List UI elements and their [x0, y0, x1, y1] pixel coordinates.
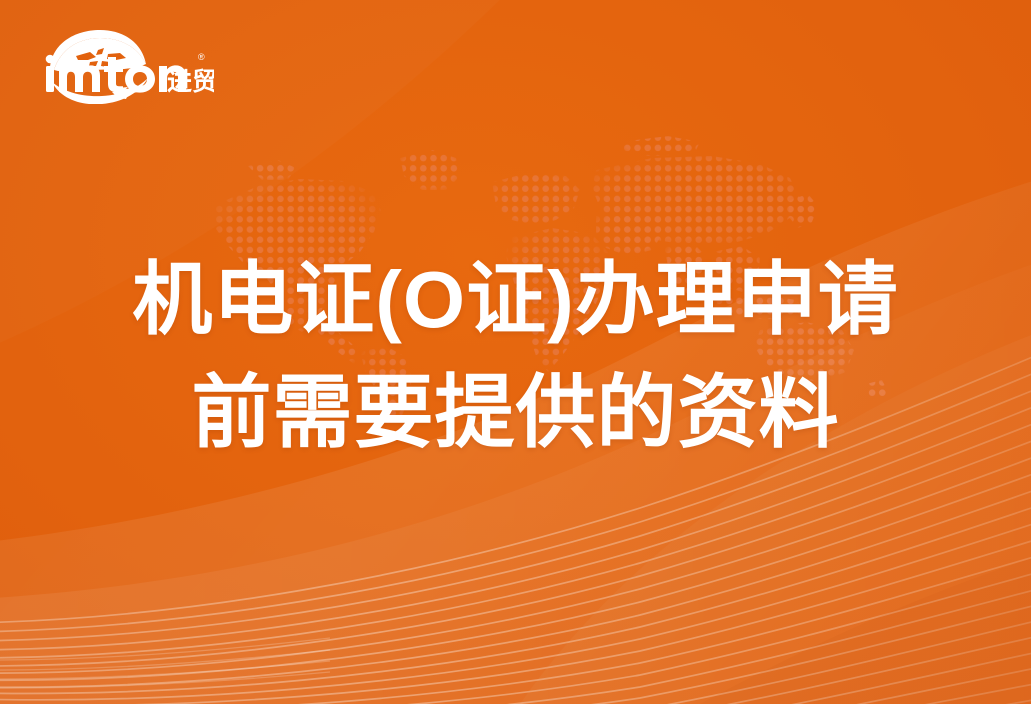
brand-chinese-name: 进贸通 [167, 68, 214, 96]
registered-mark-icon: ® [198, 52, 205, 62]
page-title-line-2: 前需要提供的资料 [0, 356, 1031, 469]
imton-logo[interactable]: 进贸通 ® [38, 26, 214, 104]
page-title-line-1: 机电证(O证)办理申请 [0, 243, 1031, 356]
page-title: 机电证(O证)办理申请 前需要提供的资料 [0, 243, 1031, 469]
poster-canvas: 进贸通 ® 机电证(O证)办理申请 前需要提供的资料 [0, 0, 1031, 704]
